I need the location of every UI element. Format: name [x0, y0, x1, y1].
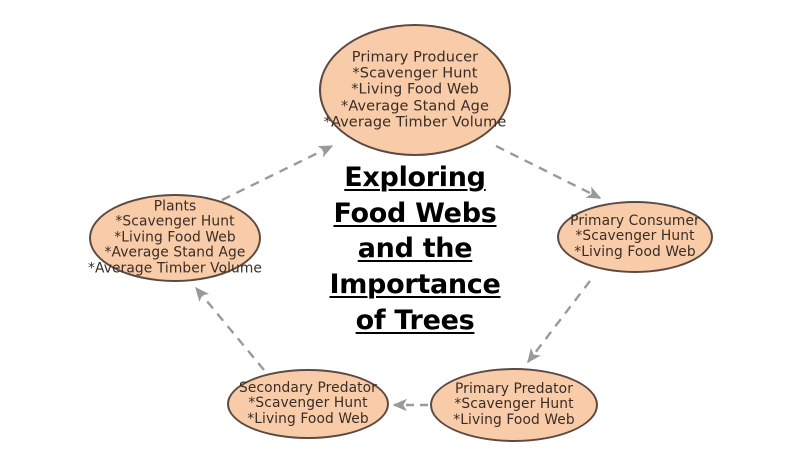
node-primary-producer-item-2: *Average Stand Age: [324, 98, 507, 114]
food-web-diagram: Primary Producer *Scavenger Hunt *Living…: [0, 0, 800, 470]
node-secondary-predator-text: Secondary Predator *Scavenger Hunt *Livi…: [239, 381, 377, 427]
node-primary-predator-title: Primary Predator: [453, 382, 574, 397]
node-plants-item-2: *Average Stand Age: [88, 246, 262, 261]
diagram-title: Exploring Food Webs and the Importance o…: [300, 160, 530, 338]
node-secondary-predator-item-0: *Scavenger Hunt: [239, 396, 377, 411]
edge-secondary-predator-to-plants: [196, 288, 264, 370]
edge-primary-consumer-to-primary-predator: [528, 281, 590, 362]
diagram-title-line-2: and the: [300, 231, 530, 267]
node-primary-predator-item-0: *Scavenger Hunt: [453, 397, 574, 412]
node-primary-producer-item-3: *Average Timber Volume: [324, 114, 507, 130]
node-primary-producer-title: Primary Producer: [324, 49, 507, 65]
node-plants-item-3: *Average Timber Volume: [88, 261, 262, 276]
node-primary-producer-item-1: *Living Food Web: [324, 82, 507, 98]
diagram-title-line-3: Importance: [300, 267, 530, 303]
node-primary-producer[interactable]: Primary Producer *Scavenger Hunt *Living…: [319, 24, 511, 156]
node-primary-consumer-item-0: *Scavenger Hunt: [570, 229, 700, 244]
diagram-title-line-1: Food Webs: [300, 196, 530, 232]
node-primary-producer-text: Primary Producer *Scavenger Hunt *Living…: [324, 49, 507, 130]
node-plants-item-1: *Living Food Web: [88, 230, 262, 245]
node-secondary-predator-title: Secondary Predator: [239, 381, 377, 396]
node-secondary-predator[interactable]: Secondary Predator *Scavenger Hunt *Livi…: [227, 369, 389, 439]
node-primary-consumer-title: Primary Consumer: [570, 214, 700, 229]
node-secondary-predator-item-1: *Living Food Web: [239, 412, 377, 427]
node-plants-text: Plants *Scavenger Hunt *Living Food Web …: [88, 199, 262, 276]
node-primary-predator-item-1: *Living Food Web: [453, 413, 574, 428]
node-plants-item-0: *Scavenger Hunt: [88, 215, 262, 230]
diagram-title-line-4: of Trees: [300, 303, 530, 339]
node-primary-consumer[interactable]: Primary Consumer *Scavenger Hunt *Living…: [557, 201, 713, 273]
node-plants-title: Plants: [88, 199, 262, 214]
node-plants[interactable]: Plants *Scavenger Hunt *Living Food Web …: [89, 194, 261, 282]
node-primary-consumer-item-1: *Living Food Web: [570, 245, 700, 260]
node-primary-predator[interactable]: Primary Predator *Scavenger Hunt *Living…: [430, 368, 598, 442]
node-primary-predator-text: Primary Predator *Scavenger Hunt *Living…: [453, 382, 574, 428]
diagram-title-line-0: Exploring: [300, 160, 530, 196]
node-primary-producer-item-0: *Scavenger Hunt: [324, 66, 507, 82]
node-primary-consumer-text: Primary Consumer *Scavenger Hunt *Living…: [570, 214, 700, 260]
